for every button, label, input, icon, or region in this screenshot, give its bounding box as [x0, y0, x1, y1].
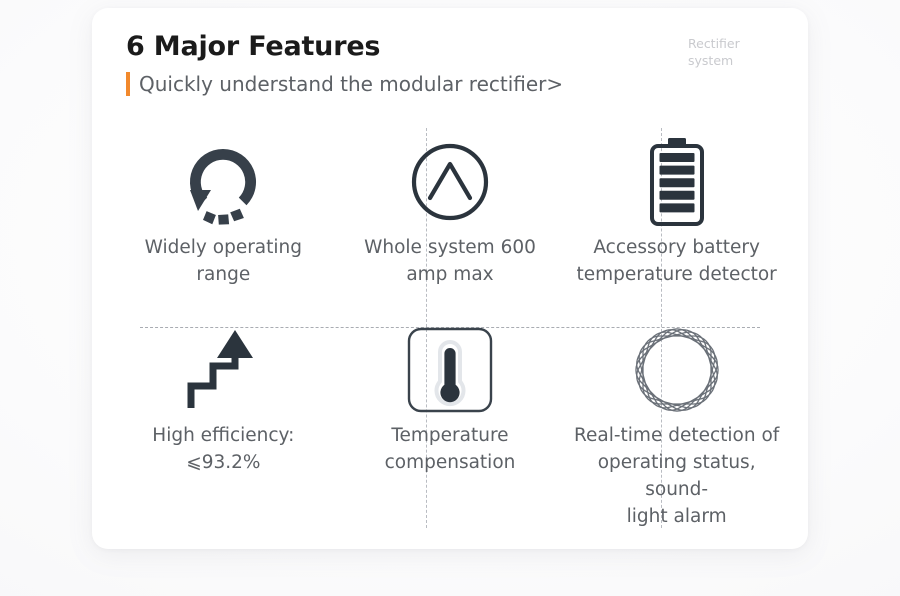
- brand-line-2: system: [688, 52, 778, 69]
- page-subtitle: Quickly understand the modular rectifier…: [139, 72, 563, 96]
- thermometer-icon: [406, 326, 494, 414]
- feature-cell-realtime-detection[interactable]: Real-time detection of operating status,…: [563, 306, 790, 530]
- icon-wrap: [183, 324, 263, 416]
- feature-label: Real-time detection of operating status,…: [569, 422, 784, 530]
- feature-card: 6 Major Features Quickly understand the …: [92, 8, 808, 549]
- feature-cell-high-efficiency[interactable]: High efficiency: ⩽93.2%: [110, 306, 337, 530]
- feature-cell-accessory-battery[interactable]: Accessory battery temperature detector: [563, 120, 790, 306]
- card-header: 6 Major Features Quickly understand the …: [126, 30, 776, 98]
- icon-wrap: [180, 136, 266, 228]
- circle-chevron-up-icon: [408, 140, 492, 224]
- feature-label: Widely operating range: [116, 234, 331, 288]
- feature-label: Whole system 600 amp max: [364, 234, 536, 288]
- feature-cell-whole-system-amp[interactable]: Whole system 600 amp max: [337, 120, 564, 306]
- icon-wrap: [406, 324, 494, 416]
- page-root: 6 Major Features Quickly understand the …: [0, 0, 900, 596]
- features-grid: Widely operating range Whole system 600 …: [110, 120, 790, 530]
- icon-wrap: [408, 136, 492, 228]
- feature-label: High efficiency: ⩽93.2%: [152, 422, 294, 476]
- subtitle-row: Quickly understand the modular rectifier…: [126, 70, 776, 98]
- spirograph-icon: [633, 326, 721, 414]
- page-title: 6 Major Features: [126, 30, 776, 64]
- rotation-arrow-icon: [180, 139, 266, 225]
- brand-line-1: Rectifier: [688, 35, 778, 52]
- accent-bar: [126, 72, 130, 96]
- feature-label: Accessory battery temperature detector: [577, 234, 777, 288]
- feature-cell-temperature-compensation[interactable]: Temperature compensation: [337, 306, 564, 530]
- brand-label: Rectifier system: [688, 35, 778, 69]
- feature-cell-widely-operating-range[interactable]: Widely operating range: [110, 120, 337, 306]
- icon-wrap: [645, 136, 709, 228]
- feature-label: Temperature compensation: [385, 422, 516, 476]
- battery-full-icon: [645, 136, 709, 228]
- stairs-up-arrow-icon: [183, 328, 263, 412]
- icon-wrap: [633, 324, 721, 416]
